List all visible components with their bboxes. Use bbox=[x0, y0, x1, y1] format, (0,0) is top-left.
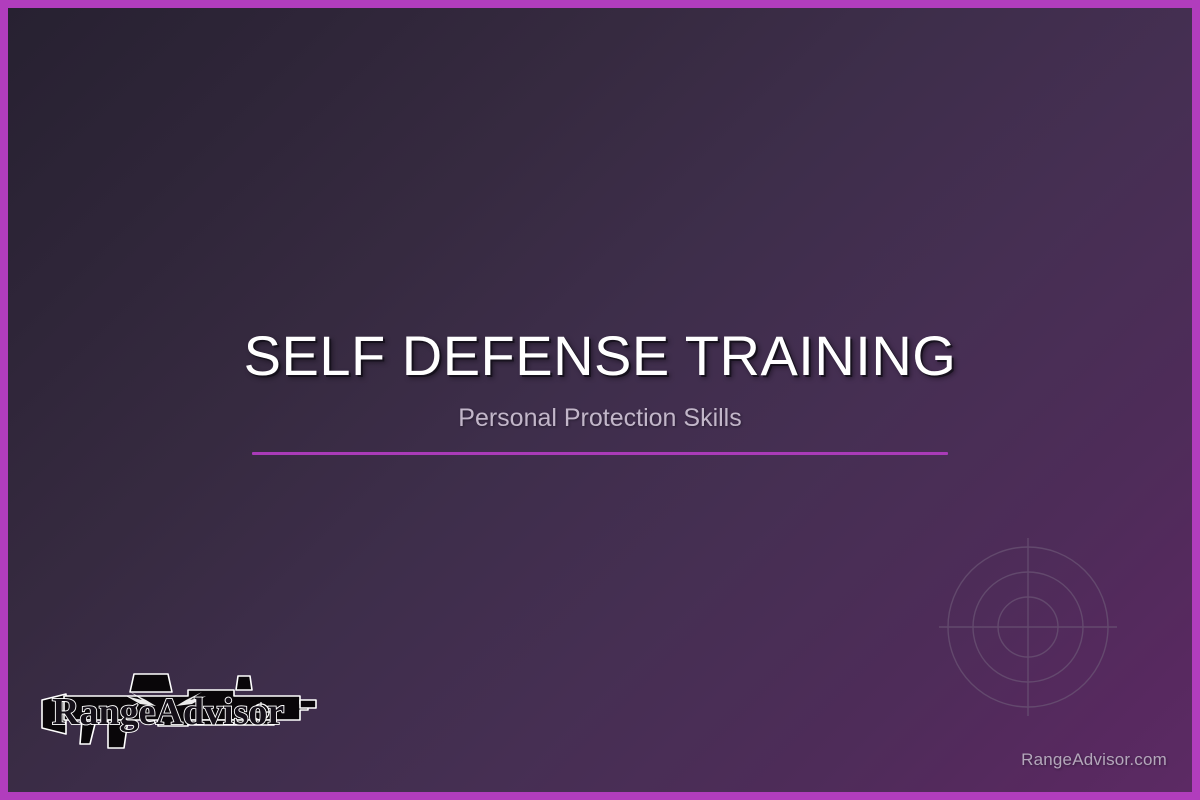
footer-website: RangeAdvisor.com bbox=[1021, 750, 1167, 770]
page-title: SELF DEFENSE TRAINING bbox=[244, 327, 957, 386]
title-divider bbox=[252, 452, 948, 455]
rifle-logo-icon: RangeAdvisor bbox=[38, 664, 320, 760]
presentation-slide: SELF DEFENSE TRAINING Personal Protectio… bbox=[0, 0, 1200, 800]
page-subtitle: Personal Protection Skills bbox=[458, 404, 741, 433]
brand-wordmark: RangeAdvisor bbox=[52, 691, 284, 733]
